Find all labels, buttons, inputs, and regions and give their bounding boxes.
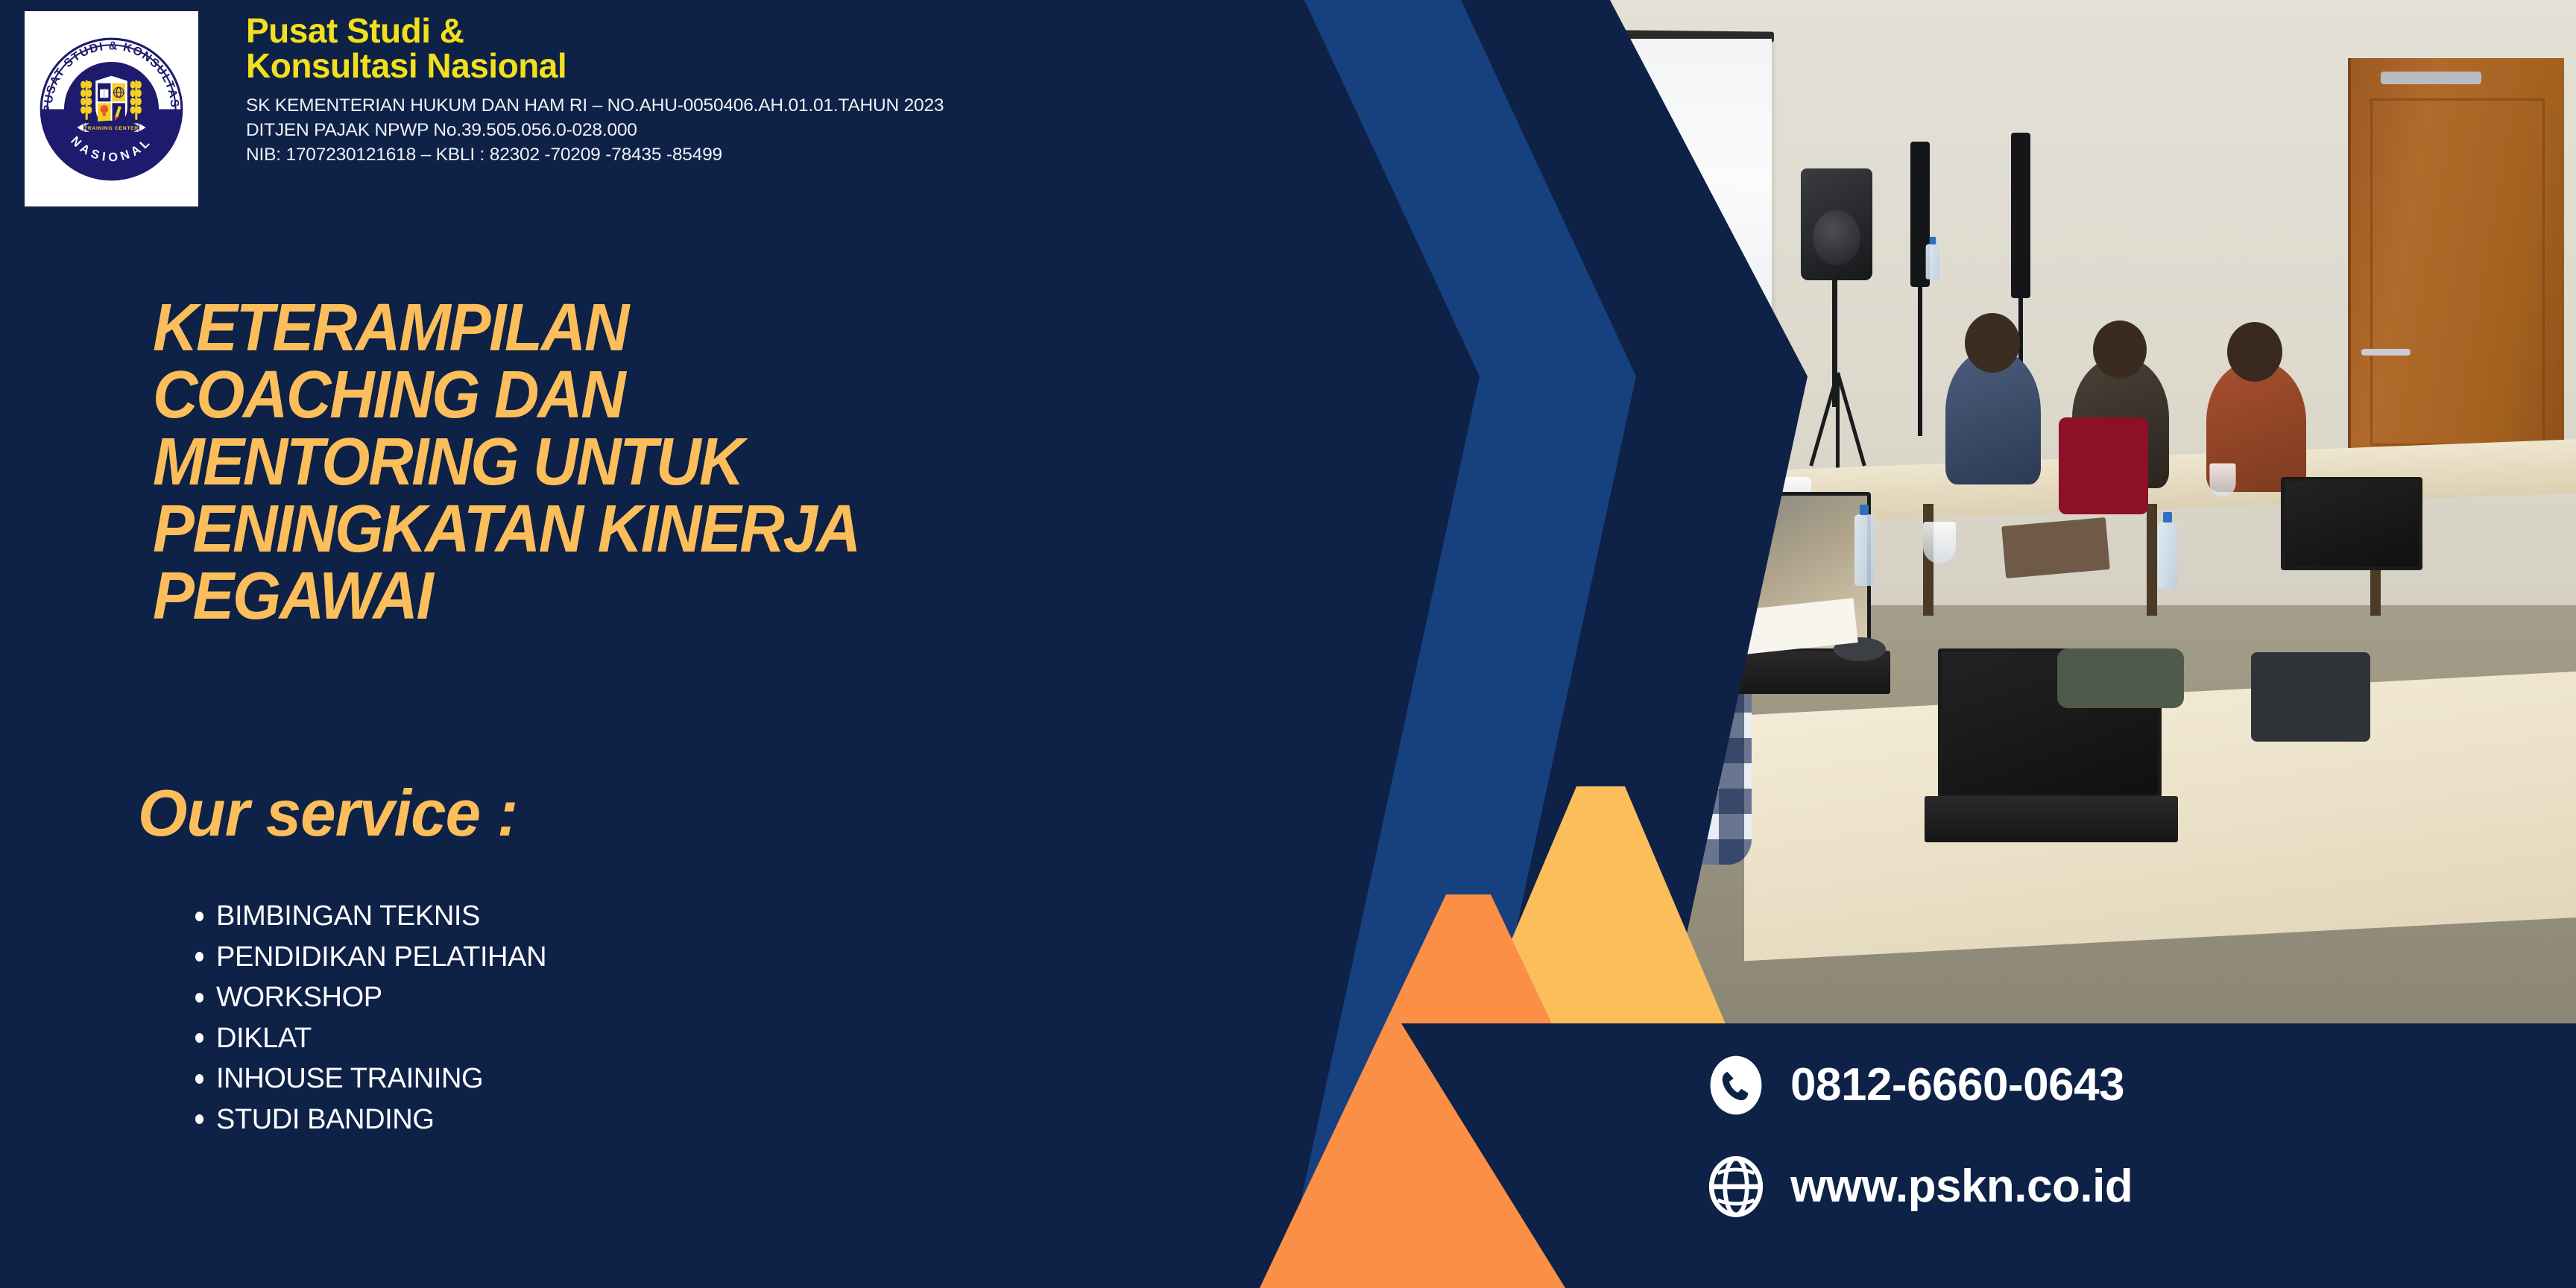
service-label: DIKLAT	[216, 1024, 312, 1052]
brand-name-line1: Pusat Studi &	[246, 13, 1185, 48]
column-speaker-right	[2011, 133, 2030, 298]
water-bottle	[1854, 514, 1874, 586]
loudspeaker	[1801, 168, 1872, 280]
brand-block: Pusat Studi & Konsultasi Nasional SK KEM…	[246, 13, 1185, 168]
ribbon-text: TRAINING CENTER	[84, 126, 139, 131]
list-item: PENDIDIKAN PELATIHAN	[195, 943, 546, 971]
list-item: STUDI BANDING	[195, 1105, 546, 1134]
attendee-head	[2227, 322, 2282, 382]
phone-number: 0812-6660-0643	[1790, 1062, 2124, 1108]
contact-block: 0812-6660-0643 www.pskn.co.id	[1416, 1023, 2576, 1288]
service-label: BIMBINGAN TEKNIS	[216, 902, 480, 930]
water-bottle	[2158, 522, 2177, 589]
water-bottle	[1926, 244, 1940, 280]
bullet-icon	[195, 1114, 203, 1124]
service-label: PENDIDIKAN PELATIHAN	[216, 943, 546, 971]
list-item: BIMBINGAN TEKNIS	[195, 902, 546, 930]
speaker-tripod	[1802, 373, 1871, 470]
brand-name-line2: Konsultasi Nasional	[246, 48, 1185, 83]
contact-website[interactable]: www.pskn.co.id	[1705, 1156, 2133, 1217]
ribbon-banner: TRAINING CENTER	[76, 120, 146, 133]
drinking-glass	[1923, 522, 1956, 563]
book-icon	[100, 88, 108, 98]
headline-line-1: KETERAMPILAN	[153, 294, 1137, 362]
play-button-icon	[1567, 169, 1610, 212]
logo-emblem: PUSAT STUDI & KONSULTASI NASIONAL	[35, 33, 188, 186]
headline-line-2: COACHING DAN	[153, 362, 1137, 429]
phone-icon	[1705, 1055, 1767, 1116]
camera-bag	[2251, 652, 2370, 742]
list-item: INHOUSE TRAINING	[195, 1064, 546, 1093]
backpack	[2057, 648, 2184, 708]
headline-line-3: MENTORING UNTUK	[153, 429, 1137, 496]
bullet-icon	[195, 952, 203, 962]
service-label: STUDI BANDING	[216, 1105, 435, 1134]
bullet-icon	[195, 1074, 203, 1084]
service-label: WORKSHOP	[216, 983, 382, 1011]
bullet-icon	[195, 1033, 203, 1043]
drinking-glass	[2209, 464, 2235, 497]
company-logo: PUSAT STUDI & KONSULTASI NASIONAL	[25, 11, 198, 206]
legal-info: SK KEMENTERIAN HUKUM DAN HAM RI – NO.AHU…	[246, 93, 1185, 168]
training-session-photo	[1178, 0, 2576, 1044]
bullet-icon	[195, 912, 203, 921]
list-item: DIKLAT	[195, 1024, 546, 1052]
wooden-door	[2348, 58, 2564, 476]
website-url: www.pskn.co.id	[1790, 1164, 2133, 1210]
red-chair	[1185, 887, 1409, 1044]
legal-line-nib: NIB: 1707230121618 – KBLI : 82302 -70209…	[246, 142, 1185, 167]
list-item: WORKSHOP	[195, 983, 546, 1011]
promotional-banner: PUSAT STUDI & KONSULTASI NASIONAL	[0, 0, 2576, 1288]
page-title: KETERAMPILAN COACHING DAN MENTORING UNTU…	[153, 294, 1211, 630]
service-label: INHOUSE TRAINING	[216, 1064, 483, 1093]
services-list: BIMBINGAN TEKNIS PENDIDIKAN PELATIHAN WO…	[195, 902, 546, 1146]
globe-icon	[1705, 1156, 1767, 1217]
attendee-head	[1965, 313, 2020, 373]
legal-line-npwp: DITJEN PAJAK NPWP No.39.505.056.0-028.00…	[246, 118, 1185, 142]
contact-phone[interactable]: 0812-6660-0643	[1705, 1055, 2124, 1116]
headline-line-4: PENINGKATAN KINERJA	[153, 496, 1137, 563]
attendee-head	[2093, 321, 2147, 379]
notebook	[2001, 517, 2110, 578]
legal-line-sk: SK KEMENTERIAN HUKUM DAN HAM RI – NO.AHU…	[246, 93, 1185, 118]
headline-line-5: PEGAWAI	[153, 563, 1137, 630]
red-chair	[2059, 417, 2148, 514]
services-heading: Our service :	[138, 775, 517, 851]
bullet-icon	[195, 993, 203, 1003]
